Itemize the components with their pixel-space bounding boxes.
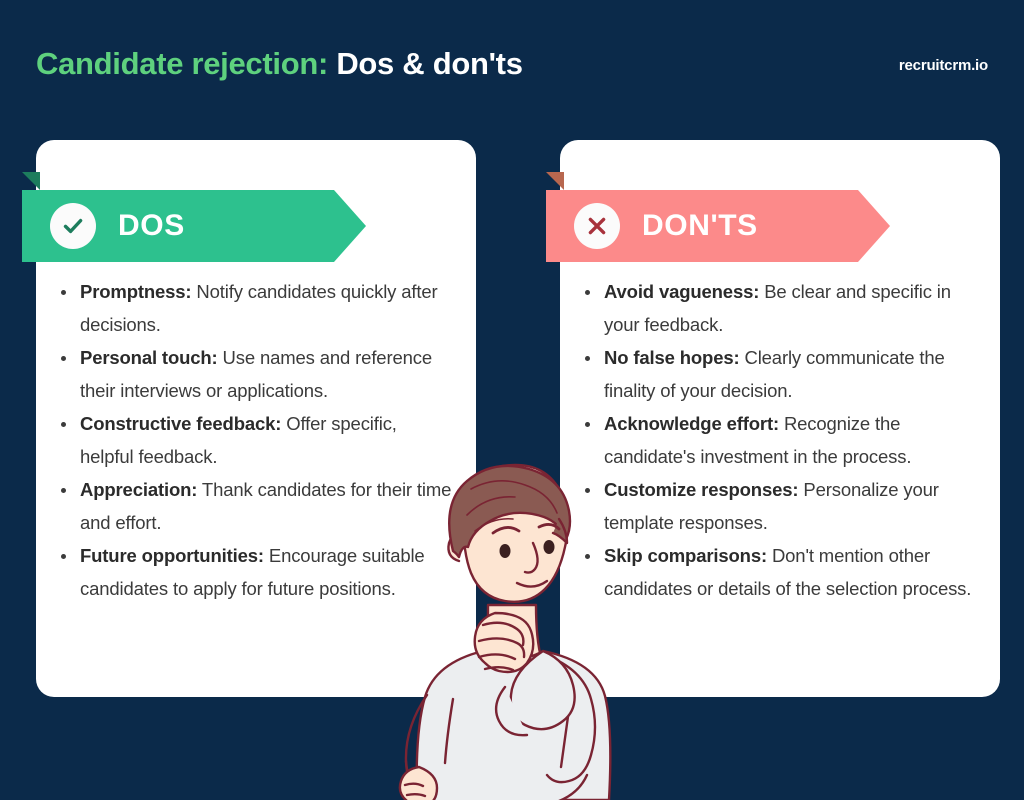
donts-ribbon-label: DON'TS xyxy=(642,209,758,243)
list-item-term: Future opportunities: xyxy=(80,545,264,566)
donts-ribbon-content: DON'TS xyxy=(546,190,890,262)
page-title: Candidate rejection: Dos & don'ts xyxy=(36,46,523,82)
list-item-term: Constructive feedback: xyxy=(80,413,281,434)
list-item-term: Personal touch: xyxy=(80,347,218,368)
list-item: Personal touch: Use names and reference … xyxy=(58,342,454,407)
dos-ribbon: DOS xyxy=(22,190,366,262)
dos-ribbon-label: DOS xyxy=(118,209,185,243)
x-circle-icon xyxy=(574,203,620,249)
list-item-term: Customize responses: xyxy=(604,479,798,500)
list-item: Future opportunities: Encourage suitable… xyxy=(58,540,454,605)
list-item: Appreciation: Thank candidates for their… xyxy=(58,474,454,539)
dos-ribbon-content: DOS xyxy=(22,190,366,262)
donts-list: Avoid vagueness: Be clear and specific i… xyxy=(582,276,978,606)
list-item: Skip comparisons: Don't mention other ca… xyxy=(582,540,978,605)
list-item: Avoid vagueness: Be clear and specific i… xyxy=(582,276,978,341)
list-item-term: No false hopes: xyxy=(604,347,740,368)
dos-list: Promptness: Notify candidates quickly af… xyxy=(58,276,454,606)
list-item-term: Promptness: xyxy=(80,281,191,302)
list-item: Acknowledge effort: Recognize the candid… xyxy=(582,408,978,473)
page-title-rest: Dos & don'ts xyxy=(336,46,522,81)
check-circle-icon xyxy=(50,203,96,249)
donts-ribbon: DON'TS xyxy=(546,190,890,262)
page-title-highlight: Candidate rejection: xyxy=(36,46,328,81)
list-item-term: Appreciation: xyxy=(80,479,197,500)
brand-logo: recruitcrm.io xyxy=(899,57,988,74)
list-item-term: Skip comparisons: xyxy=(604,545,767,566)
list-item: Constructive feedback: Offer specific, h… xyxy=(58,408,454,473)
list-item: Customize responses: Personalize your te… xyxy=(582,474,978,539)
list-item-term: Acknowledge effort: xyxy=(604,413,779,434)
list-item: No false hopes: Clearly communicate the … xyxy=(582,342,978,407)
list-item: Promptness: Notify candidates quickly af… xyxy=(58,276,454,341)
header: Candidate rejection: Dos & don'ts recrui… xyxy=(0,0,1024,118)
list-item-term: Avoid vagueness: xyxy=(604,281,759,302)
